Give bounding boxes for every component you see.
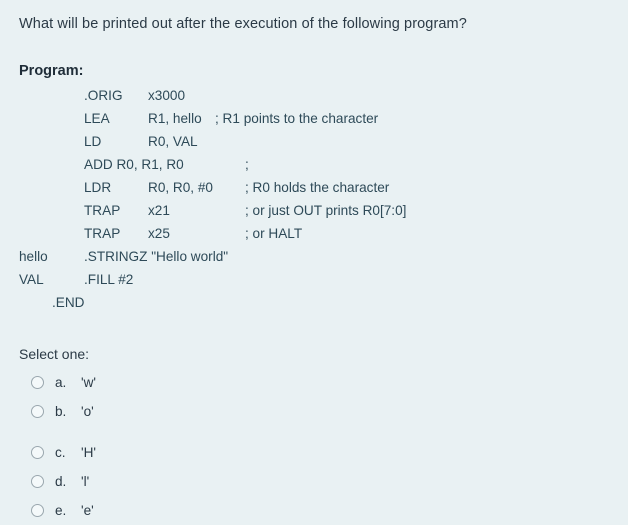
option-text: 'o' <box>81 404 94 419</box>
code-line: .ORIGx3000 <box>0 84 628 107</box>
option-text: 'e' <box>81 503 94 518</box>
code-operand: R0, VAL <box>148 130 198 153</box>
answer-options-list: a.'w'b.'o'c.'H'd.'l'e.'e' <box>0 368 628 525</box>
option-letter: d. <box>55 474 81 489</box>
code-line: LEAR1, hello; R1 points to the character <box>0 107 628 130</box>
option-text: 'w' <box>81 375 96 390</box>
code-opcode: TRAP <box>84 199 120 222</box>
code-comment: ; R1 points to the character <box>215 107 378 130</box>
code-opcode: LD <box>84 130 101 153</box>
question-text: What will be printed out after the execu… <box>19 15 467 33</box>
option-letter: b. <box>55 404 81 419</box>
radio-button-icon[interactable] <box>31 376 44 389</box>
code-comment: ; or HALT <box>245 222 302 245</box>
option-text: 'l' <box>81 474 89 489</box>
code-line: TRAPx21; or just OUT prints R0[7:0] <box>0 199 628 222</box>
code-line: TRAPx25; or HALT <box>0 222 628 245</box>
code-comment: ; or just OUT prints R0[7:0] <box>245 199 406 222</box>
option-text: 'H' <box>81 445 96 460</box>
answer-option-a[interactable]: a.'w' <box>0 368 628 397</box>
code-opcode: .FILL #2 <box>84 268 133 291</box>
code-operand: x25 <box>148 222 170 245</box>
program-label: Program: <box>19 63 83 79</box>
code-operand: x21 <box>148 199 170 222</box>
code-line: VAL.FILL #2 <box>0 268 628 291</box>
program-code-block: .ORIGx3000LEAR1, hello; R1 points to the… <box>0 84 628 314</box>
option-letter: a. <box>55 375 81 390</box>
code-line: LDR0, VAL <box>0 130 628 153</box>
code-opcode: .STRINGZ "Hello world" <box>84 245 228 268</box>
code-opcode: LDR <box>84 176 111 199</box>
answer-option-d[interactable]: d.'l' <box>0 467 628 496</box>
option-letter: c. <box>55 445 81 460</box>
code-comment: ; <box>245 153 249 176</box>
radio-button-icon[interactable] <box>31 475 44 488</box>
code-opcode: TRAP <box>84 222 120 245</box>
code-comment: ; R0 holds the character <box>245 176 389 199</box>
code-operand: R0, R0, #0 <box>148 176 213 199</box>
radio-button-icon[interactable] <box>31 504 44 517</box>
code-label: VAL <box>19 268 44 291</box>
answer-option-e[interactable]: e.'e' <box>0 496 628 525</box>
select-one-prompt: Select one: <box>19 346 89 362</box>
code-operand: R1, hello <box>148 107 202 130</box>
answer-option-c[interactable]: c.'H' <box>0 438 628 467</box>
code-opcode: .ORIG <box>84 84 123 107</box>
code-opcode: LEA <box>84 107 110 130</box>
code-opcode: .END <box>52 291 84 314</box>
code-label: hello <box>19 245 48 268</box>
radio-button-icon[interactable] <box>31 405 44 418</box>
code-line: .END <box>0 291 628 314</box>
code-line: hello.STRINGZ "Hello world" <box>0 245 628 268</box>
option-letter: e. <box>55 503 81 518</box>
code-operand: x3000 <box>148 84 185 107</box>
code-opcode: ADD R0, R1, R0 <box>84 153 184 176</box>
radio-button-icon[interactable] <box>31 446 44 459</box>
code-line: ADD R0, R1, R0; <box>0 153 628 176</box>
code-line: LDRR0, R0, #0; R0 holds the character <box>0 176 628 199</box>
quiz-question-page: What will be printed out after the execu… <box>0 0 628 523</box>
answer-option-b[interactable]: b.'o' <box>0 397 628 426</box>
